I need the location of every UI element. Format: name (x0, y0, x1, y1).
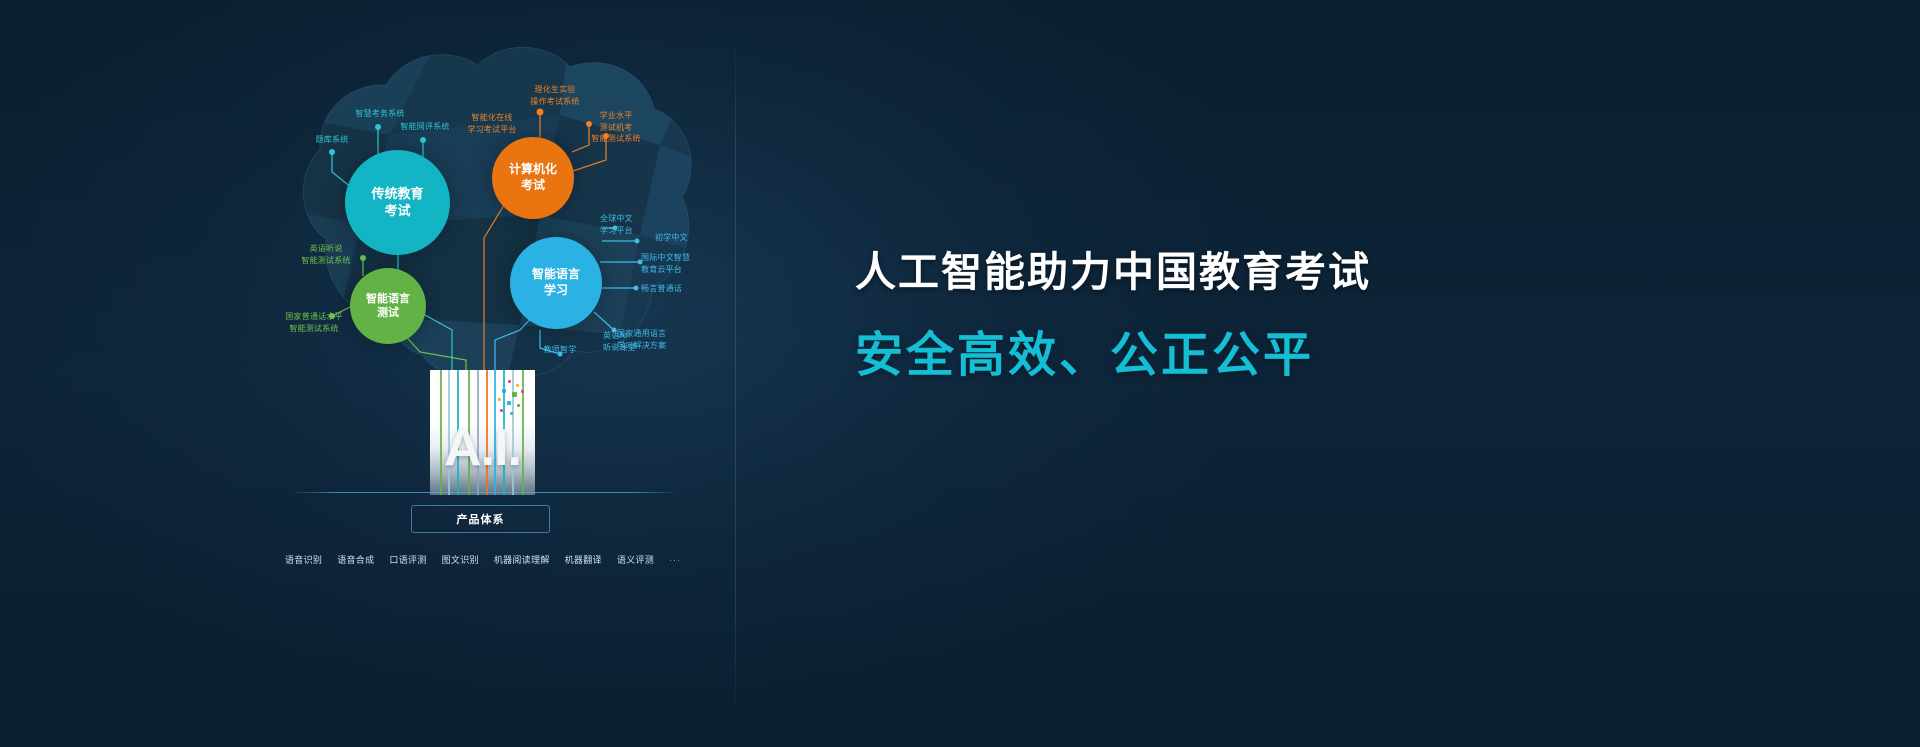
baseline-rule (290, 492, 678, 493)
node-language-learning[interactable]: 智能语言 学习 (510, 237, 602, 329)
node-computerized-exam[interactable]: 计算机化 考试 (492, 137, 574, 219)
hero-headline: 人工智能助力中国教育考试 (855, 238, 1371, 298)
node-traditional-label: 传统教育 考试 (371, 186, 423, 220)
leaf-label-beginner-chinese: 初学中文 (655, 232, 717, 244)
leaf-label-intl-chinese-cloud: 国际中文智慧 教育云平台 (641, 252, 717, 275)
keyword-item: 机器翻译 (565, 553, 602, 566)
leaf-label-online-learning: 智能化在线 学习考试平台 (455, 112, 529, 135)
node-traditional-education-exam[interactable]: 传统教育 考试 (345, 150, 450, 255)
keyword-item: 语义评测 (617, 553, 654, 566)
keyword-item: 机器阅读理解 (494, 553, 550, 566)
product-system-label: 产品体系 (457, 511, 505, 527)
product-system-box[interactable]: 产品体系 (411, 505, 550, 533)
node-computerized-label: 计算机化 考试 (509, 162, 557, 193)
keyword-item: 图文识别 (442, 553, 479, 566)
leaf-label-lab-operation-exam: 理化生实验 操作考试系统 (518, 84, 592, 107)
hero-subheadline: 安全高效、公正公平 (855, 315, 1314, 385)
leaf-label-english-listening: 英语听说 智能测试系统 (288, 243, 364, 266)
node-language-testing-label: 智能语言 测试 (366, 292, 410, 321)
ai-trunk-graphic: A.I. (430, 370, 535, 495)
node-language-learning-label: 智能语言 学习 (532, 267, 580, 298)
leaf-label-question-bank: 题库系统 (302, 134, 362, 146)
leaf-label-putonghua-test: 国家普通话水平 智能测试系统 (272, 311, 356, 334)
keyword-item-more: ··· (669, 555, 681, 565)
leaf-label-academic-level-exam: 学业水平 测试机考 智能测试系统 (578, 110, 654, 145)
leaf-label-standard-mandarin: 畅言普通话 (641, 283, 707, 295)
leaf-label-english-ai-class: 英语AI 听说课堂 (603, 330, 657, 353)
keyword-item: 语音识别 (285, 553, 322, 566)
ai-wordmark: A.I. (430, 418, 535, 478)
leaf-label-smart-exam-affairs: 智慧考务系统 (345, 108, 415, 120)
leaf-label-teacher-smart: 教师智学 (533, 344, 587, 356)
keyword-item: 口语评测 (389, 553, 426, 566)
hero-banner: 智慧考务系统 智能网评系统 题库系统 智能化在线 学习考试平台 理化生实验 操作… (0, 0, 1920, 747)
keyword-row: 语音识别 语音合成 口语评测 图文识别 机器阅读理解 机器翻译 语义评测 ··· (285, 553, 685, 566)
node-language-testing[interactable]: 智能语言 测试 (350, 268, 426, 344)
leaf-label-smart-grading: 智能网评系统 (390, 121, 460, 133)
keyword-item: 语音合成 (337, 553, 374, 566)
